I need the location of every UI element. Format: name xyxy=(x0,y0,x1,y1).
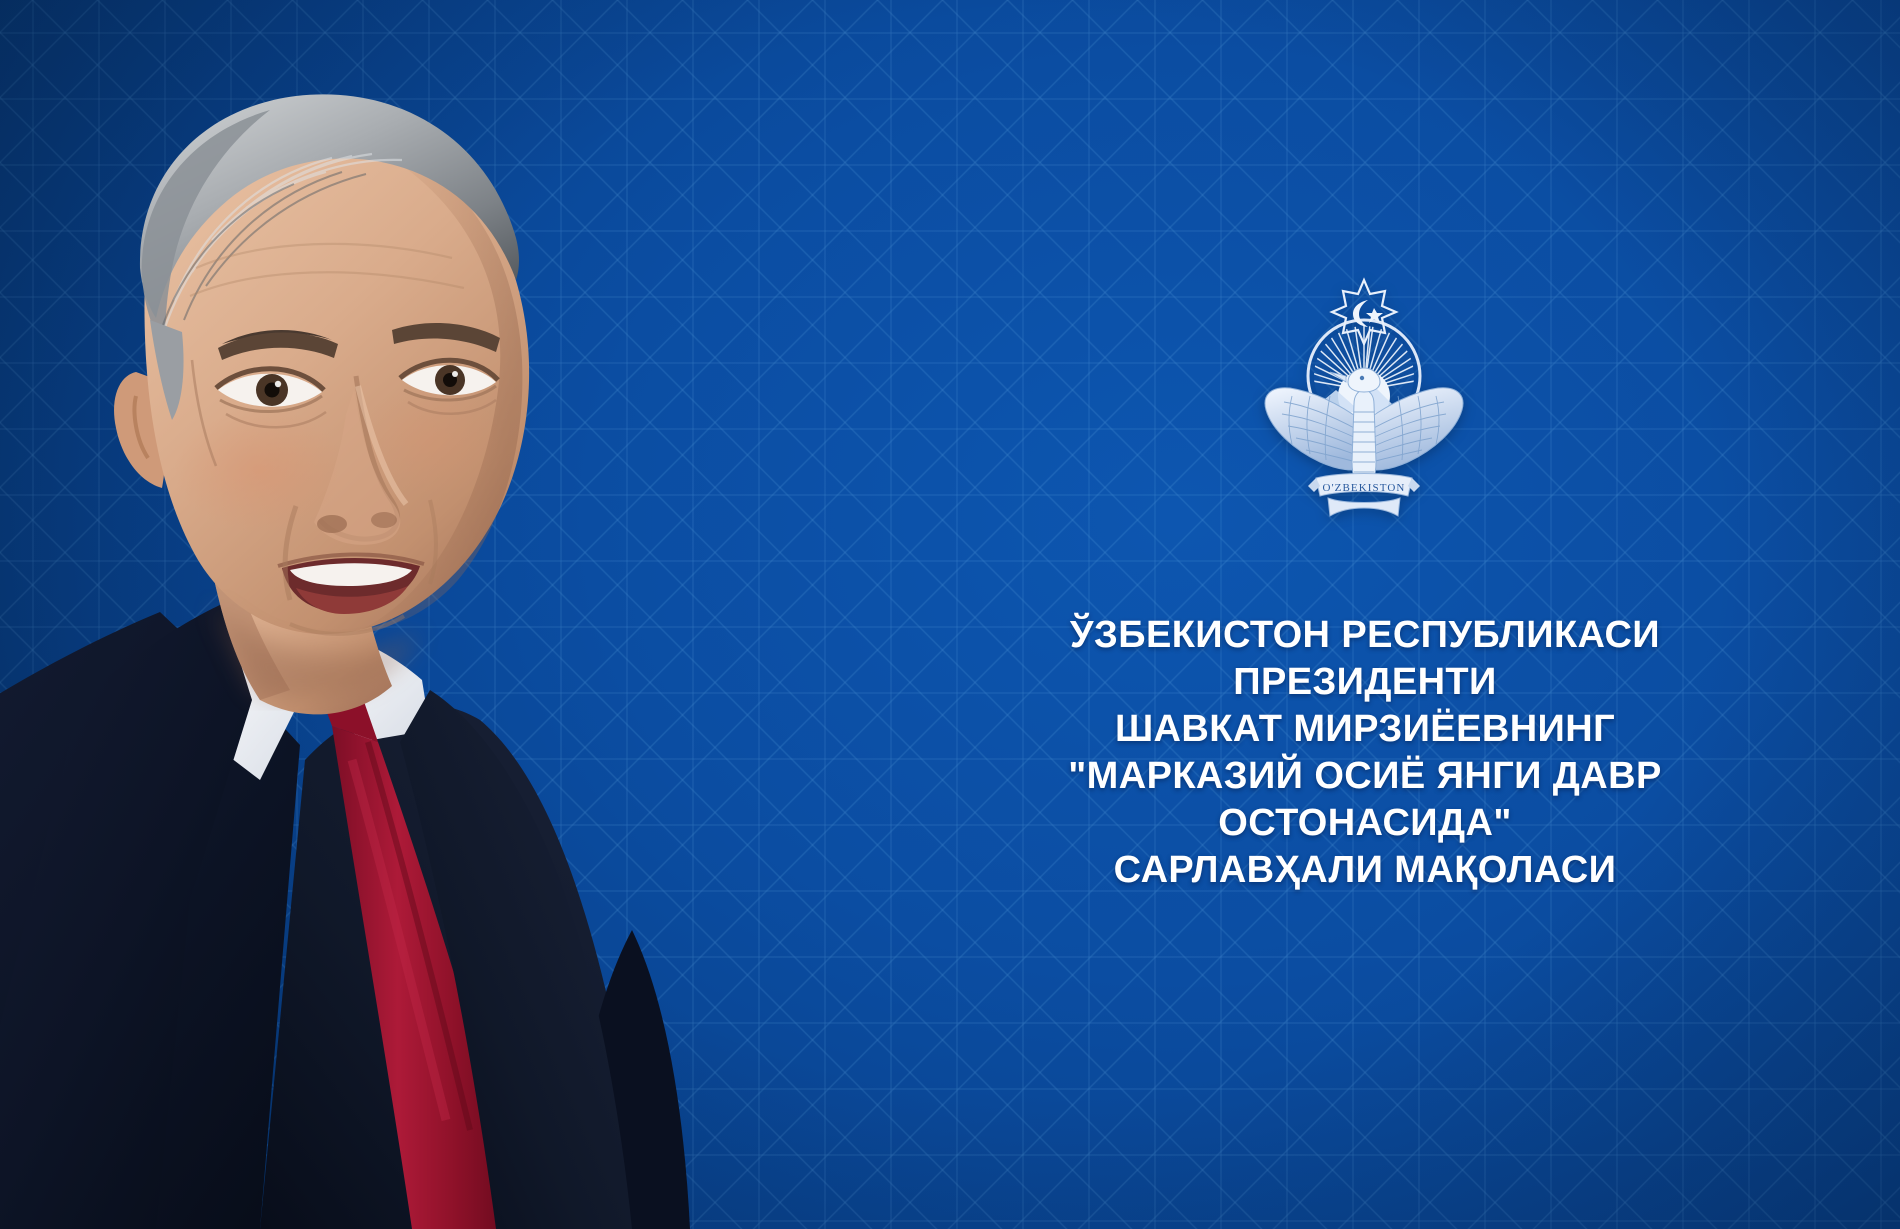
eye-left xyxy=(216,369,324,412)
title-line-6: САРЛАВҲАЛИ МАҚОЛАСИ xyxy=(995,847,1735,894)
title-line-3: ШАВКАТ МИРЗИЁЕВНИНГ xyxy=(995,706,1735,753)
emblem-banner-text: O'ZBEKISTON xyxy=(1323,482,1406,494)
poster-title: ЎЗБЕКИСТОН РЕСПУБЛИКАСИ ПРЕЗИДЕНТИ ШАВКА… xyxy=(995,612,1735,894)
title-line-1: ЎЗБЕКИСТОН РЕСПУБЛИКАСИ xyxy=(995,612,1735,659)
title-line-2: ПРЕЗИДЕНТИ xyxy=(995,659,1735,706)
emblem-banner: O'ZBEKISTON xyxy=(1308,474,1420,517)
uzbekistan-coat-of-arms: O'ZBEKISTON xyxy=(1258,272,1470,524)
eye-right xyxy=(400,360,498,400)
portrait-president xyxy=(0,0,790,1229)
head xyxy=(114,94,529,634)
title-line-4: "МАРКАЗИЙ ОСИЁ ЯНГИ ДАВР xyxy=(995,753,1735,800)
poster-canvas: O'ZBEKISTON ЎЗБЕКИСТОН РЕСПУБЛИКАСИ ПРЕЗ… xyxy=(0,0,1900,1229)
title-line-5: ОСТОНАСИДА" xyxy=(995,800,1735,847)
